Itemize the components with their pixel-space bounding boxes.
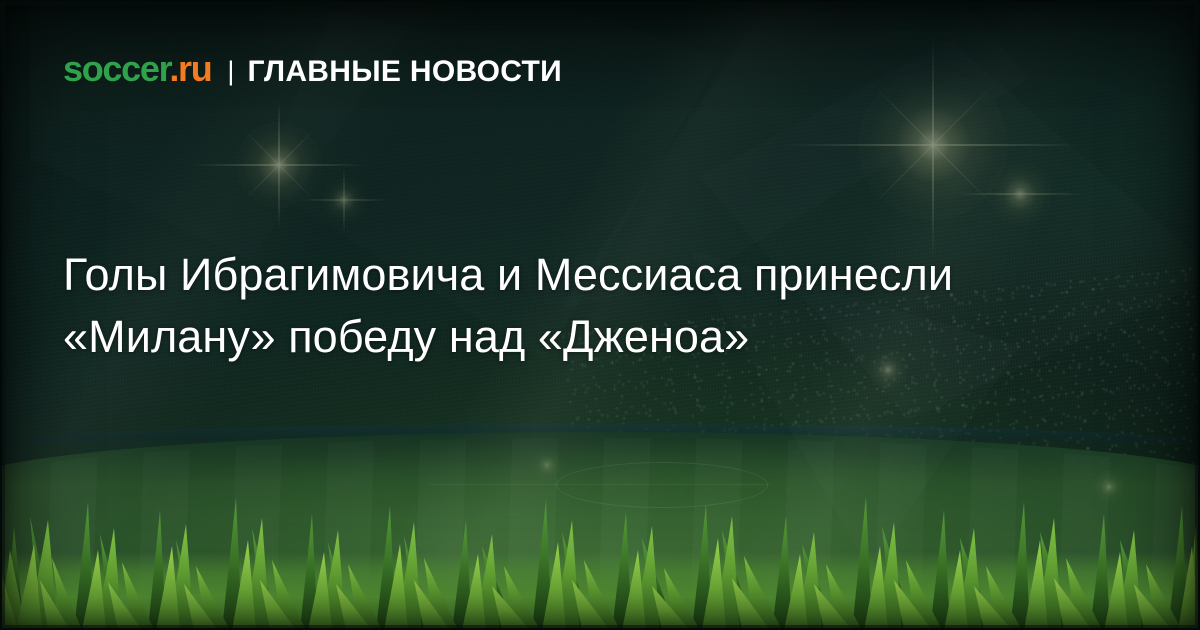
pitch-mow-stripes (0, 438, 1200, 628)
floodlight-flare-icon (1092, 470, 1126, 504)
floodlight-flare-icon (236, 122, 322, 208)
header-separator: | (227, 56, 234, 87)
floodlight-flare-icon (988, 162, 1052, 226)
card-header: soccer.ru | ГЛАВНЫЕ НОВОСТИ (63, 48, 562, 90)
pitch-centre-circle (556, 462, 768, 508)
grass-base-fill (0, 552, 1200, 630)
header-kicker: ГЛАВНЫЕ НОВОСТИ (247, 55, 562, 89)
grass-blades-back (6, 496, 1188, 630)
pitch-boundary-wall (0, 424, 1200, 446)
grass-blades-mid (0, 516, 1200, 630)
floodlight-flare-icon (322, 178, 366, 222)
logo-primary-text: soccer (63, 48, 169, 89)
site-logo[interactable]: soccer.ru (63, 48, 211, 90)
grass-blades-front (0, 538, 1200, 630)
pitch-halfway-line (430, 484, 770, 485)
page-title: Голы Ибрагимовича и Мессиаса принесли «М… (63, 244, 1023, 368)
polygon-shape (30, 0, 410, 260)
share-card: soccer.ru | ГЛАВНЫЕ НОВОСТИ Голы Ибрагим… (0, 0, 1200, 630)
logo-accent-text: .ru (169, 48, 211, 89)
floodlight-flare-icon (858, 70, 1008, 220)
grass-foreground (0, 480, 1200, 630)
floodlight-flare-icon (530, 448, 564, 482)
football-pitch (0, 432, 1200, 630)
